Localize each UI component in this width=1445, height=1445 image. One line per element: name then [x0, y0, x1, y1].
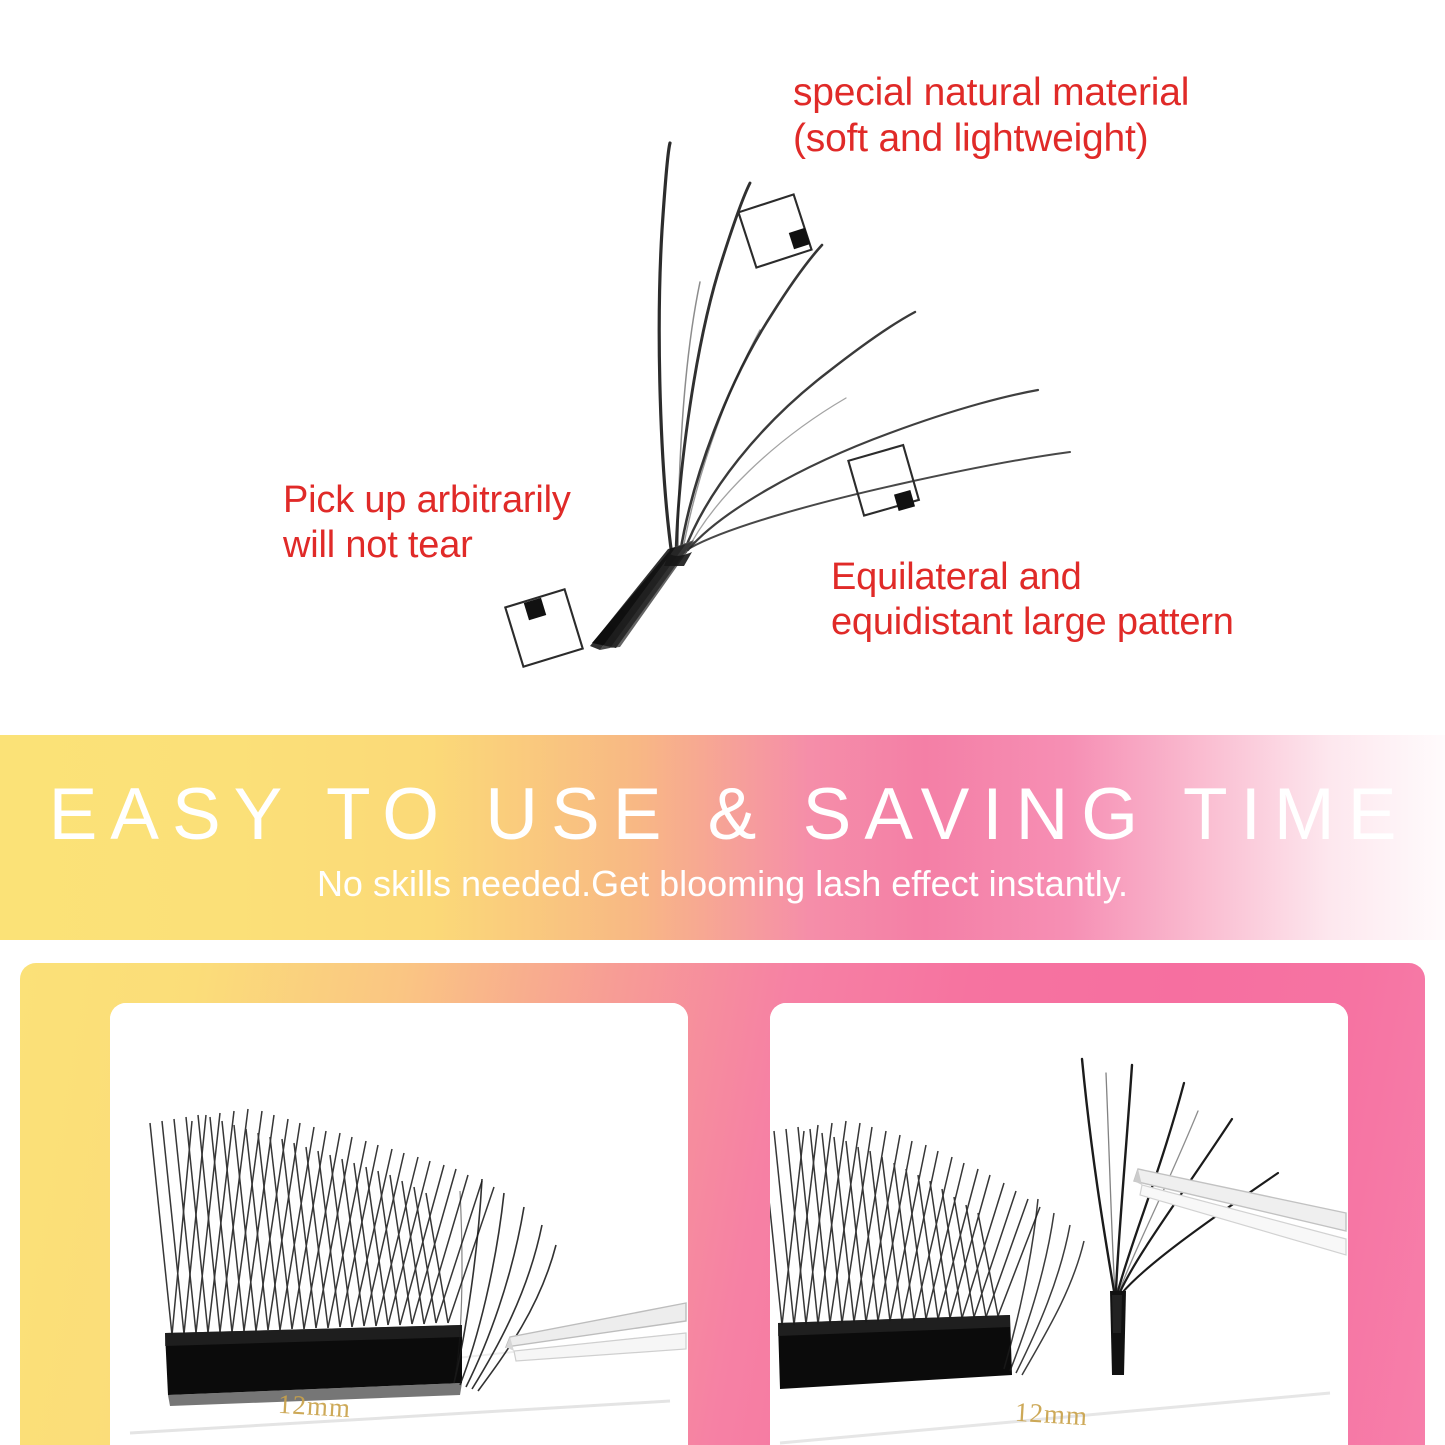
callout-marker-base: [505, 589, 582, 666]
size-label-right: 12mm: [1014, 1397, 1089, 1432]
callout-durability: Pick up arbitrarily will not tear: [283, 478, 571, 568]
lash-base: [590, 540, 695, 650]
banner-title: EASY TO USE & SAVING TIME: [0, 773, 1445, 856]
feature-diagram-section: special natural material (soft and light…: [0, 0, 1445, 735]
product-photo-panel: 12mm 12mm: [20, 963, 1425, 1445]
callout-marker-right: [848, 445, 919, 516]
photo-card-lash-tray-tweezers: 12mm 12mm: [110, 1003, 688, 1445]
callout-pattern-line2: equidistant large pattern: [831, 601, 1234, 643]
callout-marker-top: [738, 194, 811, 267]
size-label-left: 12mm: [277, 1389, 352, 1424]
callout-durability-line1: Pick up arbitrarily: [283, 479, 571, 521]
photo-lash-tray-tweezers: 12mm: [110, 1003, 688, 1445]
callout-durability-line2: will not tear: [283, 524, 473, 566]
callout-material-line1: special natural material: [793, 71, 1189, 114]
photo-lash-fan-lifted: [770, 1003, 1348, 1445]
photo-card-lash-fan-lifted: 12mm: [770, 1003, 1348, 1445]
callout-pattern: Equilateral and equidistant large patter…: [831, 555, 1234, 645]
banner-subtitle: No skills needed.Get blooming lash effec…: [0, 863, 1445, 905]
callout-material: special natural material (soft and light…: [793, 70, 1189, 162]
callout-material-line2: (soft and lightweight): [793, 117, 1148, 160]
callout-pattern-line1: Equilateral and: [831, 556, 1082, 598]
headline-banner: EASY TO USE & SAVING TIME No skills need…: [0, 735, 1445, 940]
lash-fibers: [659, 143, 1070, 556]
